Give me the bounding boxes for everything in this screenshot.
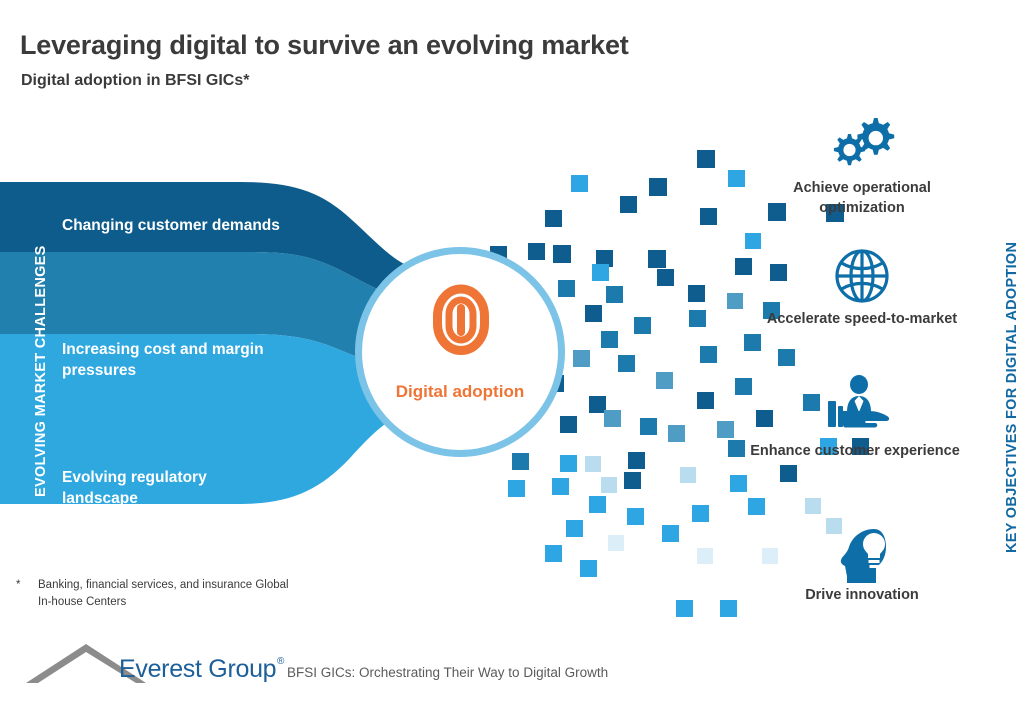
footer-caption: BFSI GICs: Orchestrating Their Way to Di… — [287, 665, 608, 680]
page-title: Leveraging digital to survive an evolvin… — [20, 30, 629, 61]
scatter-square — [640, 418, 657, 435]
scatter-square — [762, 548, 778, 564]
right-axis-label: KEY OBJECTIVES FOR DIGITAL ADOPTION — [1004, 242, 1020, 553]
page-subtitle: Digital adoption in BFSI GICs* — [21, 72, 249, 90]
scatter-square — [735, 378, 752, 395]
scatter-square — [601, 477, 617, 493]
scatter-square — [756, 410, 773, 427]
scatter-square — [601, 331, 618, 348]
scatter-square — [770, 264, 787, 281]
scatter-square — [618, 355, 635, 372]
scatter-square — [589, 496, 606, 513]
scatter-square — [573, 350, 590, 367]
scatter-square — [778, 349, 795, 366]
scatter-square — [648, 250, 666, 268]
hand-person-icon — [812, 375, 898, 437]
scatter-square — [560, 455, 577, 472]
footnote-marker: * — [16, 577, 20, 594]
scatter-square — [624, 472, 641, 489]
scatter-square — [720, 600, 737, 617]
scatter-square — [508, 480, 525, 497]
left-axis-label: EVOLVING MARKET CHALLENGES — [33, 245, 49, 497]
scatter-square — [727, 293, 743, 309]
scatter-square — [585, 305, 602, 322]
scatter-square — [512, 453, 529, 470]
scatter-square — [662, 525, 679, 542]
scatter-square — [748, 498, 765, 515]
everest-group-wordmark: Everest Group — [119, 655, 276, 684]
challenge-label-increasing-cost-margin: Increasing cost and margin pressures — [62, 340, 282, 382]
scatter-square — [656, 372, 673, 389]
objective-label: Drive innovation — [752, 585, 972, 605]
scatter-square — [589, 396, 606, 413]
hub-label: Digital adoption — [380, 381, 540, 404]
footnote-text: Banking, financial services, and insuran… — [38, 577, 296, 610]
scatter-square — [571, 175, 588, 192]
objective-label: Achieve operational optimization — [752, 178, 972, 219]
scatter-square — [592, 264, 609, 281]
scatter-square — [657, 269, 674, 286]
scatter-square — [528, 243, 545, 260]
scatter-square — [560, 416, 577, 433]
scatter-square — [697, 548, 713, 564]
challenge-label-changing-customer-demands: Changing customer demands — [62, 216, 282, 237]
scatter-square — [558, 280, 575, 297]
scatter-square — [628, 452, 645, 469]
globe-icon — [833, 247, 891, 305]
scatter-square — [676, 600, 693, 617]
scatter-square — [552, 478, 569, 495]
objective-label: Accelerate speed-to-market — [752, 309, 972, 329]
scatter-square — [580, 560, 597, 577]
registered-mark: ® — [277, 656, 284, 667]
scatter-square — [634, 317, 651, 334]
scatter-square — [700, 346, 717, 363]
scatter-square — [585, 456, 601, 472]
challenge-label-evolving-regulatory: Evolving regulatory landscape — [62, 468, 282, 510]
scatter-square — [745, 233, 761, 249]
scatter-square — [596, 250, 613, 267]
scatter-square — [627, 508, 644, 525]
footnote: * Banking, financial services, and insur… — [16, 577, 296, 610]
scatter-square — [668, 425, 685, 442]
scatter-square — [692, 505, 709, 522]
scatter-square — [545, 545, 562, 562]
scatter-square — [606, 286, 623, 303]
scatter-square — [735, 258, 752, 275]
scatter-square — [805, 498, 821, 514]
scatter-square — [689, 310, 706, 327]
scatter-square — [553, 245, 571, 263]
objective-label: Enhance customer experience — [735, 441, 975, 461]
scatter-square — [697, 150, 715, 168]
gears-icon — [824, 116, 900, 174]
infographic-slide: Leveraging digital to survive an evolvin… — [0, 0, 1023, 721]
scatter-square — [688, 285, 705, 302]
scatter-square — [717, 421, 734, 438]
scatter-square — [728, 170, 745, 187]
scatter-square — [697, 392, 714, 409]
scatter-square — [566, 520, 583, 537]
scatter-square — [649, 178, 667, 196]
scatter-square — [608, 535, 624, 551]
head-lightbulb-icon — [830, 523, 894, 585]
scatter-square — [700, 208, 717, 225]
scatter-square — [730, 475, 747, 492]
scatter-square — [620, 196, 637, 213]
scatter-square — [545, 210, 562, 227]
scatter-square — [780, 465, 797, 482]
fingerprint-icon — [433, 283, 489, 355]
scatter-square — [680, 467, 696, 483]
scatter-square — [604, 410, 621, 427]
scatter-square — [744, 334, 761, 351]
